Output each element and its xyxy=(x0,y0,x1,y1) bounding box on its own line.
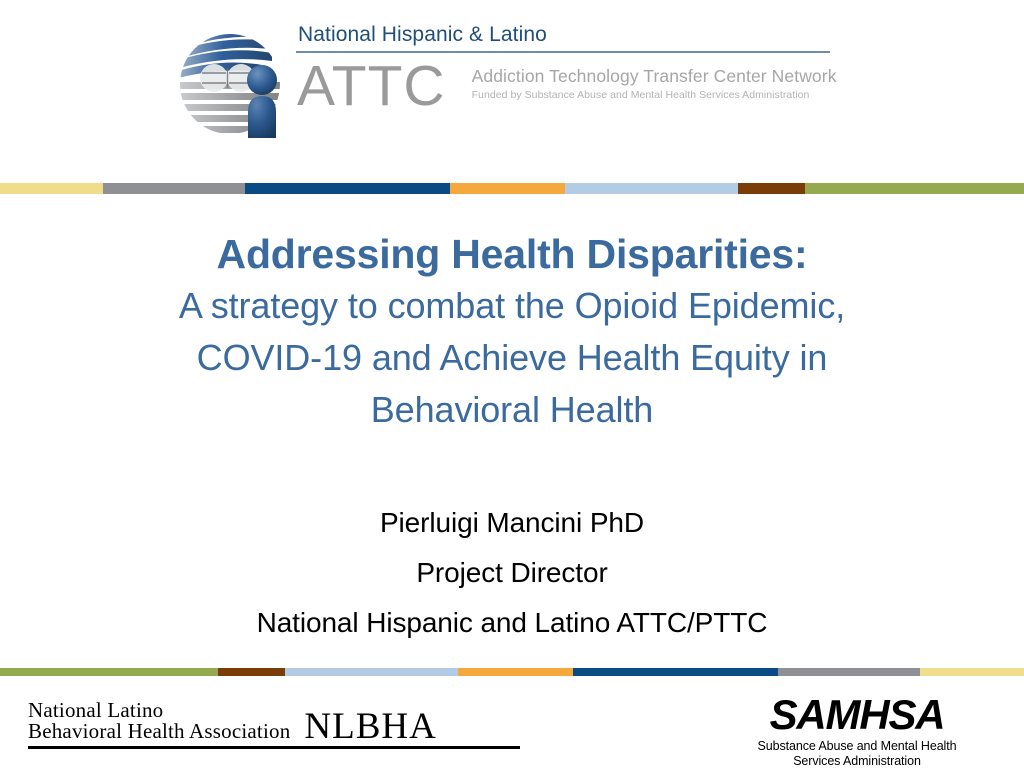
presenter-organization: National Hispanic and Latino ATTC/PTTC xyxy=(62,598,962,648)
wordmark-divider xyxy=(296,51,830,53)
attc-funding-note: Funded by Substance Abuse and Mental Hea… xyxy=(472,88,837,102)
top-color-bar xyxy=(0,183,1024,194)
top-bar-segment-tan xyxy=(0,183,103,194)
slide-title: Addressing Health Disparities: A strateg… xyxy=(62,228,962,436)
attc-tagline: Addiction Technology Transfer Center Net… xyxy=(472,66,837,87)
presenter-block: Pierluigi Mancini PhD Project Director N… xyxy=(62,498,962,648)
nlbha-underline xyxy=(28,746,520,749)
samhsa-subtitle: Substance Abuse and Mental Health Servic… xyxy=(742,739,972,769)
top-bar-segment-olive xyxy=(805,183,1024,194)
attc-header-logo: National Hispanic & Latino ATTC Addictio… xyxy=(178,22,838,142)
presenter-role: Project Director xyxy=(62,548,962,598)
slide-root: { "header": { "org_name": "National Hisp… xyxy=(0,0,1024,768)
bottom-bar-segment-olive xyxy=(0,668,218,676)
top-bar-segment-brown xyxy=(738,183,805,194)
samhsa-logo: SAMHSA Substance Abuse and Mental Health… xyxy=(742,694,972,769)
top-bar-segment-orange xyxy=(450,183,565,194)
attc-wordmark: National Hispanic & Latino ATTC Addictio… xyxy=(296,22,836,140)
samhsa-acronym: SAMHSA xyxy=(742,694,972,736)
bottom-bar-segment-brown xyxy=(218,668,285,676)
nlbha-name-line-1: National Latino xyxy=(28,700,290,721)
bottom-color-bar xyxy=(0,668,1024,676)
top-bar-segment-gray xyxy=(103,183,245,194)
title-line-4: Behavioral Health xyxy=(62,384,962,436)
attc-acronym: ATTC xyxy=(296,60,446,112)
top-bar-segment-dark-blue xyxy=(245,183,450,194)
nlbha-name: National Latino Behavioral Health Associ… xyxy=(28,700,290,745)
samhsa-subtitle-line-2: Services Administration xyxy=(742,754,972,769)
title-line-2: A strategy to combat the Opioid Epidemic… xyxy=(62,280,962,332)
striped-globe-with-person-icon xyxy=(178,26,286,138)
nlbha-acronym: NLBHA xyxy=(290,708,436,745)
nlbha-logo: National Latino Behavioral Health Associ… xyxy=(28,700,528,749)
bottom-bar-segment-gray xyxy=(778,668,920,676)
bottom-bar-segment-tan xyxy=(920,668,1024,676)
title-line-3: COVID-19 and Achieve Health Equity in xyxy=(62,332,962,384)
presenter-name: Pierluigi Mancini PhD xyxy=(62,498,962,548)
bottom-bar-segment-dark-blue xyxy=(573,668,778,676)
top-bar-segment-light-blue xyxy=(565,183,738,194)
samhsa-subtitle-line-1: Substance Abuse and Mental Health xyxy=(742,739,972,754)
national-hispanic-latino-label: National Hispanic & Latino xyxy=(296,22,836,48)
nlbha-name-line-2: Behavioral Health Association xyxy=(28,721,290,742)
bottom-bar-segment-light-blue xyxy=(285,668,458,676)
title-line-1: Addressing Health Disparities: xyxy=(62,228,962,280)
bottom-bar-segment-orange xyxy=(458,668,573,676)
